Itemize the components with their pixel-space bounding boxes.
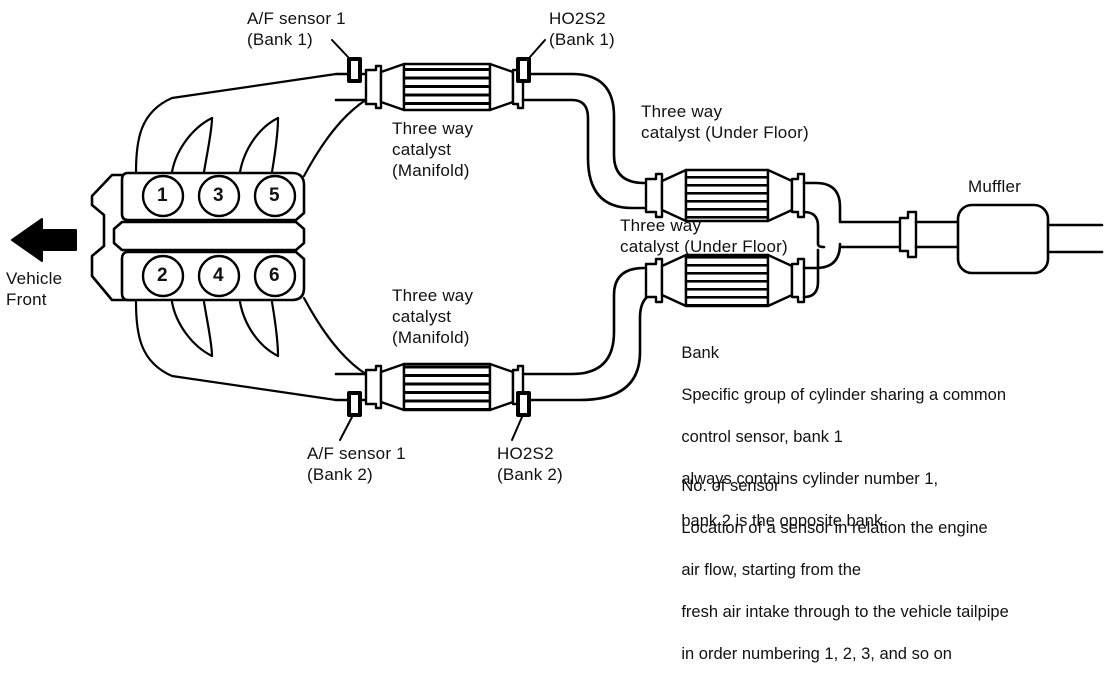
arrow-left-icon: [12, 219, 76, 261]
sensor-note-heading: No. of sensor: [681, 477, 779, 495]
twc-underfloor-upper: [646, 170, 804, 221]
cylinder-5-label: 5: [269, 185, 280, 206]
cylinder-1-label: 1: [157, 185, 168, 206]
exhaust-pipe-bank-1-downstream: [523, 74, 644, 208]
bank-note-line-2: control sensor, bank 1: [681, 428, 842, 446]
twc-underfloor-upper-label: Three waycatalyst (Under Floor): [641, 101, 809, 143]
sensor-note-line-1: Location of a sensor in relation the eng…: [681, 519, 987, 537]
twc-manifold-bank-1: [366, 64, 523, 110]
twc-manifold-bank-2: [366, 364, 523, 410]
ho2s2-bank-2-label: HO2S2(Bank 2): [497, 443, 563, 485]
bank-note-line-1: Specific group of cylinder sharing a com…: [681, 386, 1006, 404]
cylinder-2-label: 2: [157, 265, 168, 286]
sensor-note-line-3: fresh air intake through to the vehicle …: [681, 603, 1008, 621]
pipe-flange-mid: [900, 212, 958, 257]
exhaust-pipe-bank-2-downstream: [523, 268, 660, 400]
af-sensor-1-bank-2-label: A/F sensor 1(Bank 2): [307, 443, 406, 485]
vehicle-front-label: VehicleFront: [6, 268, 62, 310]
twc-underfloor-lower-label: Three waycatalyst (Under Floor): [620, 215, 788, 257]
tailpipe: [1048, 225, 1102, 252]
sensor-note-line-2: air flow, starting from the: [681, 561, 861, 579]
af-sensor-1-bank-1-label: A/F sensor 1(Bank 1): [247, 8, 346, 50]
exhaust-manifold-bank-1: [136, 74, 366, 176]
twc-manifold-bank-1-label: Three waycatalyst(Manifold): [392, 118, 473, 181]
cylinder-6-label: 6: [269, 265, 280, 286]
muffler-label: Muffler: [968, 176, 1021, 197]
cylinder-3-label: 3: [213, 185, 224, 206]
diagram-canvas: VehicleFront 1 3 5 2 4 6 A/F sensor 1(Ba…: [0, 0, 1109, 574]
twc-underfloor-lower: [646, 255, 804, 306]
exhaust-manifold-bank-2: [136, 298, 366, 400]
ho2s2-bank-1-label: HO2S2(Bank 1): [549, 8, 615, 50]
twc-manifold-bank-2-label: Three waycatalyst(Manifold): [392, 285, 473, 348]
sensor-note-line-4: in order numbering 1, 2, 3, and so on: [681, 645, 952, 663]
bank-note-heading: Bank: [681, 344, 719, 362]
exhaust-pipe-merge: [804, 183, 900, 297]
muffler-body: [958, 205, 1048, 273]
sensor-number-definition-note: No. of sensor Location of a sensor in re…: [663, 455, 1009, 686]
cylinder-4-label: 4: [213, 265, 224, 286]
